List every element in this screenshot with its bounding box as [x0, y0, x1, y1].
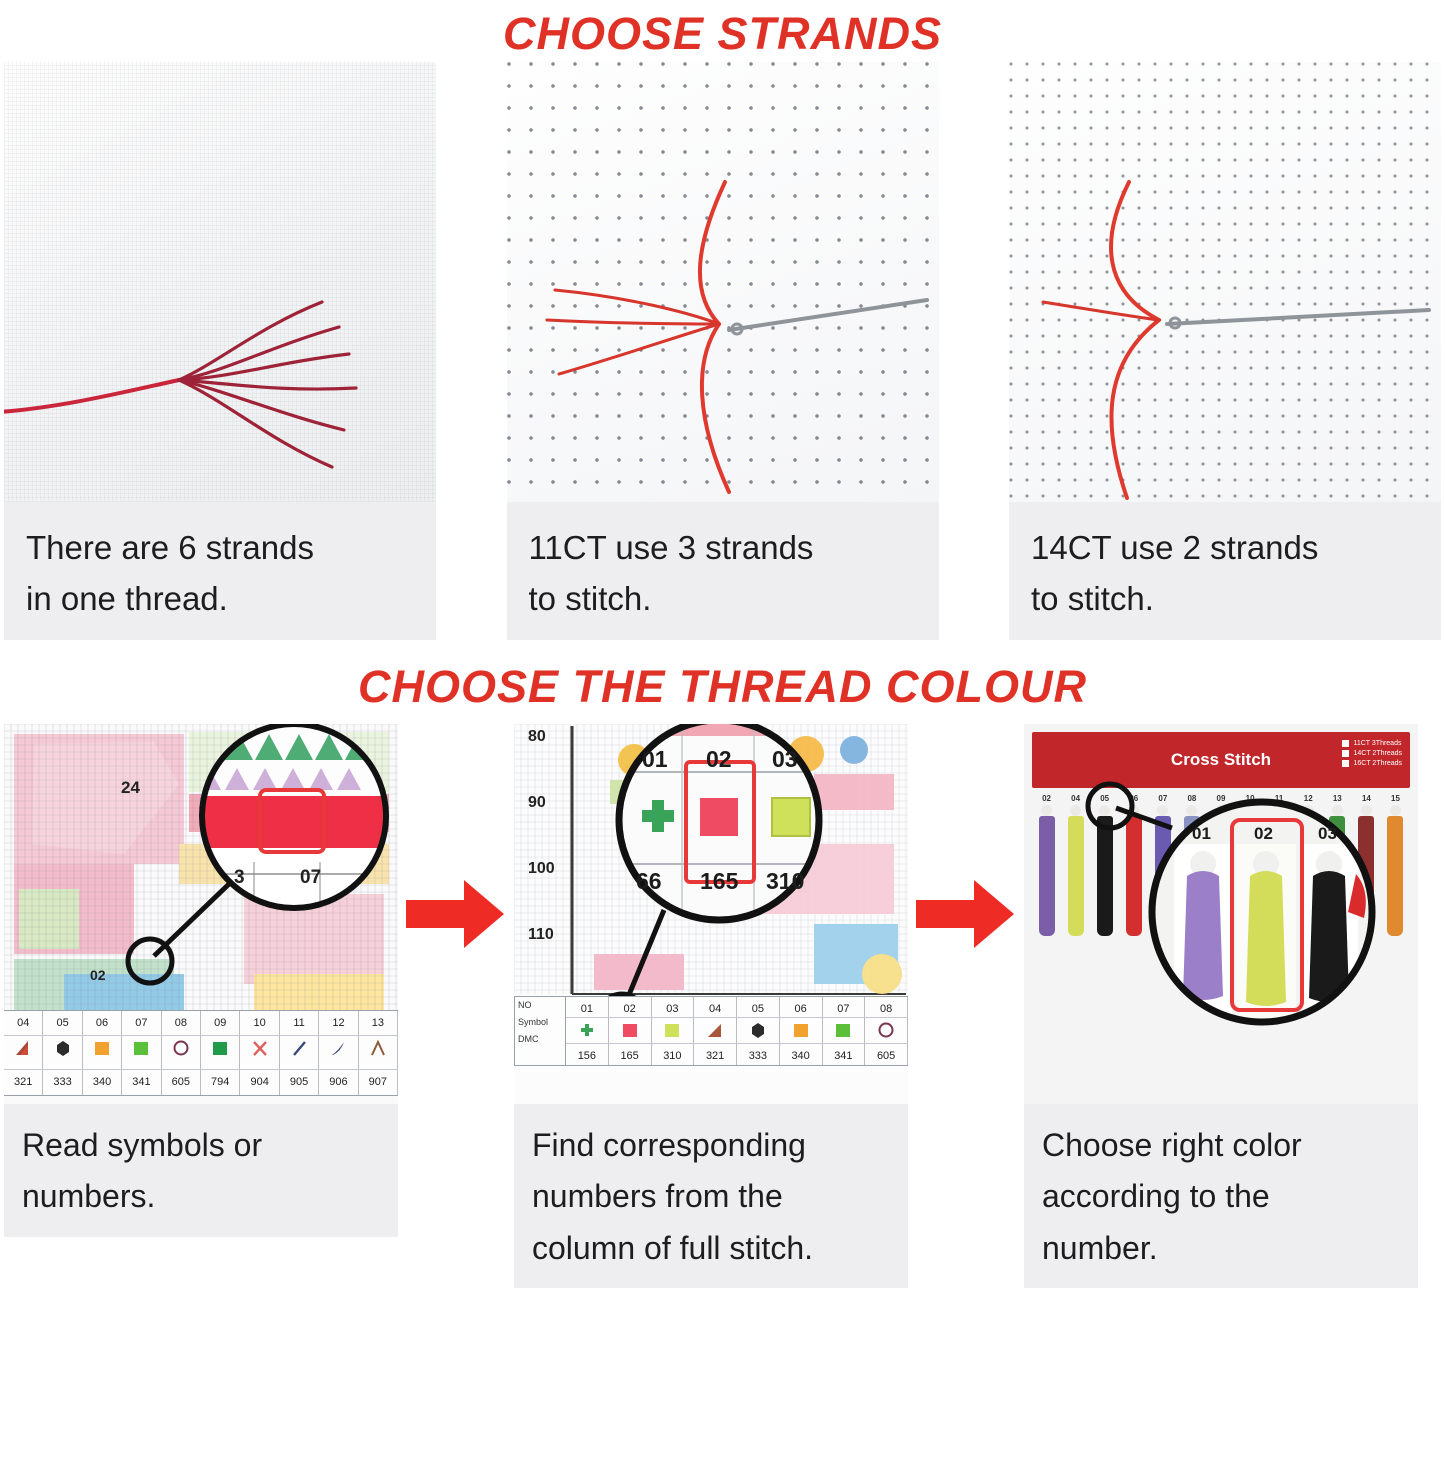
symbol-legend-number-row: 321333340341605794904905906907 — [4, 1070, 398, 1096]
symbol-cell — [737, 1018, 780, 1043]
header-cell: 05 — [737, 997, 780, 1017]
header-cell: 04 — [4, 1011, 43, 1035]
page-title-choose-strands: CHOOSE STRANDS — [0, 0, 1445, 62]
card-14ct: 14CT use 2 strands to stitch. — [1009, 62, 1441, 640]
caption-line: Read symbols or — [22, 1120, 380, 1171]
arrow-right-icon — [406, 874, 506, 954]
header-cell: 07 — [823, 997, 866, 1017]
caption-line: number. — [1042, 1223, 1400, 1274]
arrow-right-icon — [916, 874, 1016, 954]
symbol-cell — [240, 1036, 279, 1069]
caption-line: Choose right color — [1042, 1120, 1400, 1171]
symbol-cell — [780, 1018, 823, 1043]
number-legend-header-row: 0102030405060708 — [566, 996, 908, 1018]
symbol-cell — [694, 1018, 737, 1043]
number-cell: 340 — [83, 1070, 122, 1095]
number-cell: 794 — [201, 1070, 240, 1095]
header-cell: 06 — [83, 1011, 122, 1035]
symbol-cell — [319, 1036, 358, 1069]
strands-panel-row: There are 6 strands in one thread. — [0, 62, 1445, 640]
photo-pattern-chart-symbols: 24 3 07 02 04050607080910111213 32133334… — [4, 724, 398, 1104]
number-legend-symbol-row — [566, 1018, 908, 1044]
caption-find-numbers: Find corresponding numbers from the colu… — [514, 1104, 908, 1288]
caption-14ct: 14CT use 2 strands to stitch. — [1009, 502, 1441, 640]
caption-six-strands: There are 6 strands in one thread. — [4, 502, 436, 640]
symbol-cell — [4, 1036, 43, 1069]
magnifier-column-number: 66 — [636, 868, 662, 895]
caption-choose-color: Choose right color according to the numb… — [1024, 1104, 1418, 1288]
symbol-cell — [359, 1036, 398, 1069]
symbol-cell — [162, 1036, 201, 1069]
legend-row-labels: NO Symbol DMC — [514, 996, 566, 1066]
header-cell: 05 — [43, 1011, 82, 1035]
number-cell: 321 — [694, 1044, 737, 1065]
header-cell: 01 — [566, 997, 609, 1017]
number-cell: 333 — [43, 1070, 82, 1095]
number-cell: 341 — [122, 1070, 161, 1095]
header-cell: 09 — [201, 1011, 240, 1035]
header-cell: 02 — [609, 997, 652, 1017]
symbol-cell — [566, 1018, 609, 1043]
chart-magnified-cell: 07 — [300, 867, 321, 889]
header-cell: 04 — [694, 997, 737, 1017]
number-cell: 907 — [359, 1070, 398, 1095]
header-cell: 03 — [652, 997, 695, 1017]
caption-line: according to the — [1042, 1171, 1400, 1222]
magnifier-thread-header: 03 — [1318, 824, 1337, 844]
magnifier-thread-header: 02 — [1254, 824, 1273, 844]
symbol-cell — [201, 1036, 240, 1069]
arrow-2-container — [908, 724, 1024, 1104]
number-cell: 904 — [240, 1070, 279, 1095]
symbol-cell — [823, 1018, 866, 1043]
symbol-legend-header-row: 04050607080910111213 — [4, 1010, 398, 1036]
number-cell: 333 — [737, 1044, 780, 1065]
legend-row-label-dmc: DMC — [518, 1031, 565, 1048]
caption-line: column of full stitch. — [532, 1223, 890, 1274]
card-choose-color: Cross Stitch 11CT 3Threads 14CT 2Threads… — [1024, 724, 1418, 1288]
number-cell: 165 — [609, 1044, 652, 1065]
number-cell: 156 — [566, 1044, 609, 1065]
caption-11ct: 11CT use 3 strands to stitch. — [507, 502, 939, 640]
legend-row-label-no: NO — [518, 997, 565, 1014]
photo-11ct-aida-needle — [507, 62, 939, 502]
symbol-cell — [280, 1036, 319, 1069]
caption-line: numbers from the — [532, 1171, 890, 1222]
header-cell: 08 — [865, 997, 908, 1017]
header-cell: 10 — [240, 1011, 279, 1035]
card-11ct: 11CT use 3 strands to stitch. — [507, 62, 939, 640]
number-cell: 605 — [865, 1044, 908, 1065]
caption-read-symbols: Read symbols or numbers. — [4, 1104, 398, 1236]
number-legend-number-row: 156165310321333340341605 — [566, 1044, 908, 1066]
page-title-choose-thread-colour: CHOOSE THE THREAD COLOUR — [0, 650, 1445, 724]
caption-line: in one thread. — [26, 573, 414, 624]
photo-thread-organizer-card: Cross Stitch 11CT 3Threads 14CT 2Threads… — [1024, 724, 1418, 1104]
symbol-cell — [865, 1018, 908, 1043]
magnifier-thread-header: 01 — [1192, 824, 1211, 844]
number-cell: 905 — [280, 1070, 319, 1095]
photo-14ct-aida-needle — [1009, 62, 1441, 502]
card-six-strands: There are 6 strands in one thread. — [4, 62, 436, 640]
chart-magnified-cell-partial: 3 — [234, 867, 245, 889]
magnifier-column-number: 165 — [700, 868, 738, 895]
card-find-numbers: 8090100110 010203 66165310 NO Symbol DMC… — [514, 724, 908, 1288]
header-cell: 11 — [280, 1011, 319, 1035]
caption-line: to stitch. — [529, 573, 917, 624]
magnifier-column-number: 310 — [766, 868, 804, 895]
number-cell: 906 — [319, 1070, 358, 1095]
symbol-cell — [652, 1018, 695, 1043]
caption-line: 14CT use 2 strands — [1031, 522, 1419, 573]
header-cell: 13 — [359, 1011, 398, 1035]
header-cell: 08 — [162, 1011, 201, 1035]
number-cell: 341 — [823, 1044, 866, 1065]
number-cell: 310 — [652, 1044, 695, 1065]
card-read-symbols: 24 3 07 02 04050607080910111213 32133334… — [4, 724, 398, 1236]
header-cell: 06 — [780, 997, 823, 1017]
number-cell: 340 — [780, 1044, 823, 1065]
chart-magnifier-source-label: 02 — [90, 967, 106, 983]
chart-grid-number: 24 — [121, 778, 140, 798]
magnifier-thread-headers: 010203 — [1024, 724, 1418, 1104]
arrow-1-container — [398, 724, 514, 1104]
symbol-cell — [609, 1018, 652, 1043]
caption-line: Find corresponding — [532, 1120, 890, 1171]
header-cell: 07 — [122, 1011, 161, 1035]
photo-pattern-chart-numbers: 8090100110 010203 66165310 NO Symbol DMC… — [514, 724, 908, 1104]
caption-line: numbers. — [22, 1171, 380, 1222]
caption-line: 11CT use 3 strands — [529, 522, 917, 573]
symbol-cell — [122, 1036, 161, 1069]
number-cell: 321 — [4, 1070, 43, 1095]
caption-line: There are 6 strands — [26, 522, 414, 573]
symbol-legend-symbol-row — [4, 1036, 398, 1070]
header-cell: 12 — [319, 1011, 358, 1035]
legend-row-label-symbol: Symbol — [518, 1014, 565, 1031]
thread-colour-panel-row: 24 3 07 02 04050607080910111213 32133334… — [0, 724, 1445, 1288]
symbol-cell — [83, 1036, 122, 1069]
photo-plain-fabric-split-thread — [4, 62, 436, 502]
number-cell: 605 — [162, 1070, 201, 1095]
caption-line: to stitch. — [1031, 573, 1419, 624]
symbol-cell — [43, 1036, 82, 1069]
